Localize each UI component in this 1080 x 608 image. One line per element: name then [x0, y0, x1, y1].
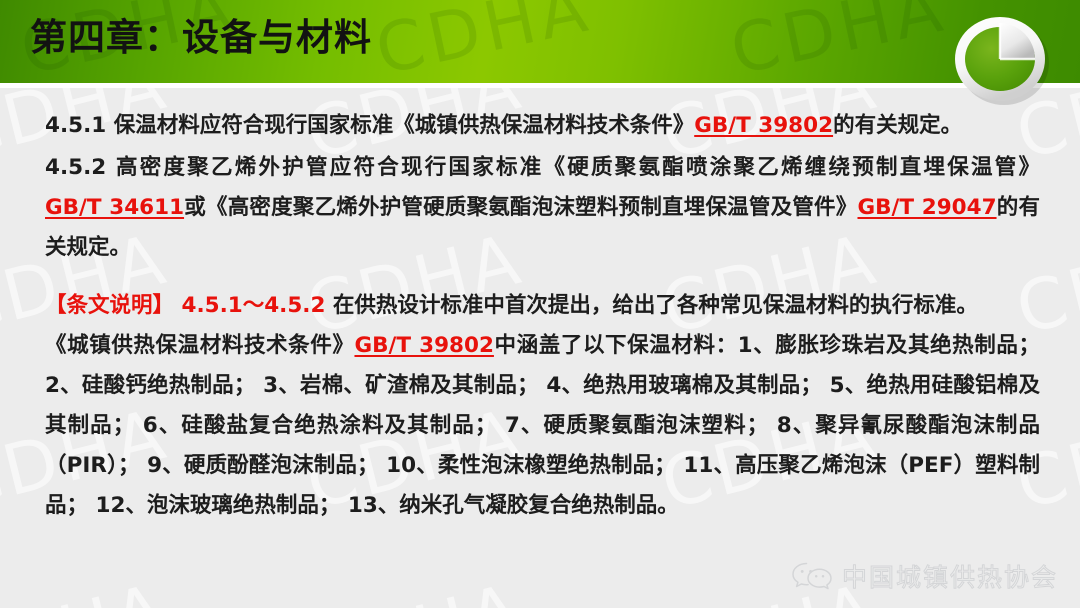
slide-body: CDHA CDHA CDHA CDHA CDHA CDHA CDHA CDHA … [0, 88, 1080, 608]
clause-4-5-2: 4.5.2 高密度聚乙烯外护管应符合现行国家标准《硬质聚氨酯喷涂聚乙烯缠绕预制直… [45, 148, 1040, 268]
text-run: 中涵盖了以下保温材料：1、膨胀珍珠岩及其绝热制品； 2、硅酸钙绝热制品； 3、岩… [45, 333, 1040, 518]
text-run: 保温材料应符合现行国家标准《城镇供热保温材料技术条件》 [106, 113, 694, 138]
note-body: 《城镇供热保温材料技术条件》GB/T 39802中涵盖了以下保温材料：1、膨胀珍… [45, 326, 1040, 526]
wechat-org-name: 中国城镇供热协会 [842, 558, 1058, 594]
note-label: 4.5.1～4.5.2 [174, 293, 325, 318]
cdha-pie-logo-svg [946, 6, 1058, 108]
text-run: 4.5.2 [45, 155, 106, 180]
text-run: 4.5.1 [45, 113, 106, 138]
header-watermark-text: CDHA [369, 0, 598, 83]
header-watermark-text: CDHA [724, 0, 953, 83]
wechat-icon [791, 560, 833, 592]
clause-4-5-1: 4.5.1 保温材料应符合现行国家标准《城镇供热保温材料技术条件》GB/T 39… [45, 106, 1040, 146]
note-heading: 【条文说明】 4.5.1～4.5.2 在供热设计标准中首次提出，给出了各种常见保… [45, 286, 1040, 326]
text-run: 《城镇供热保温材料技术条件》 [45, 333, 354, 358]
note-label: 【条文说明】 [45, 293, 174, 318]
standard-reference: GB/T 39802 [694, 113, 833, 138]
cdha-pie-logo [946, 6, 1058, 108]
standard-reference: GB/T 34611 [45, 195, 184, 220]
text-run: 在供热设计标准中首次提出，给出了各种常见保温材料的执行标准。 [325, 293, 978, 318]
text-run: 的有关规定。 [833, 113, 962, 138]
standard-reference: GB/T 29047 [857, 195, 996, 220]
slide-content: 4.5.1 保温材料应符合现行国家标准《城镇供热保温材料技术条件》GB/T 39… [0, 88, 1080, 608]
wechat-watermark: 中国城镇供热协会 [791, 558, 1058, 594]
slide-root: CDHA CDHA CDHA 第四章：设备与材料 [0, 0, 1080, 608]
standard-reference: GB/T 39802 [354, 333, 493, 358]
text-run: 高密度聚乙烯外护管应符合现行国家标准《硬质聚氨酯喷涂聚乙烯缠绕预制直埋保温管》 [106, 155, 1040, 180]
page-title: 第四章：设备与材料 [30, 13, 372, 63]
text-run: 或《高密度聚乙烯外护管硬质聚氨酯泡沫塑料预制直埋保温管及管件》 [184, 195, 857, 220]
